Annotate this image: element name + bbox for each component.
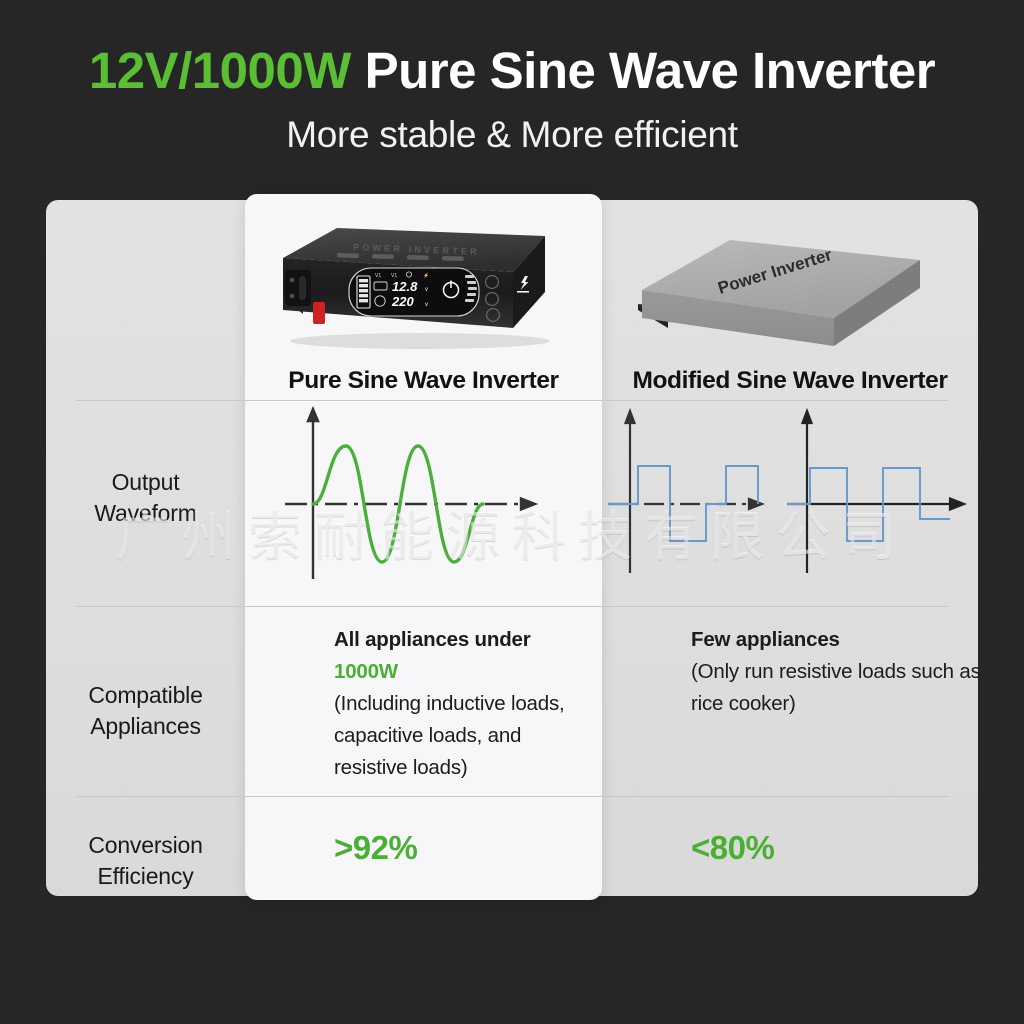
lcd-display: V1V1 ⚡ 12.8 v 220 v [349, 268, 479, 316]
cell-appliances-pure-sine: All appliances under 1000W (Including in… [334, 624, 602, 784]
svg-text:⚡: ⚡ [423, 272, 429, 279]
row-label-conversion-efficiency: Conversion Efficiency [46, 830, 245, 891]
ac-socket [285, 270, 311, 306]
page-header: 12V/1000W Pure Sine Wave Inverter More s… [0, 0, 1024, 156]
row-label-output-waveform: Output Waveform [46, 467, 245, 528]
page-subtitle: More stable & More efficient [0, 114, 1024, 156]
lcd-dc-voltage: 12.8 [392, 279, 418, 294]
divider-after-header [76, 400, 948, 401]
svg-text:v: v [425, 287, 428, 293]
page-title-spec: 12V/1000W [89, 42, 351, 99]
lcd-ac-voltage: 220 [391, 294, 414, 309]
column-header-pure-sine: Pure Sine Wave Inverter [245, 367, 602, 395]
column-header-modified-sine: Modified Sine Wave Inverter [602, 367, 978, 395]
cell-appliances-modified-sine: Few appliances (Only run resistive loads… [691, 624, 1021, 720]
svg-text:V1: V1 [375, 273, 381, 279]
cell-efficiency-modified-sine: <80% [691, 829, 774, 867]
page-title: 12V/1000W Pure Sine Wave Inverter [0, 44, 1024, 98]
svg-text:v: v [425, 302, 428, 308]
divider-after-appliances [76, 796, 948, 797]
row-label-compatible-appliances: Compatible Appliances [46, 680, 245, 741]
power-switch [313, 302, 325, 324]
divider-after-waveform [76, 606, 948, 607]
pure-sine-inverter-image: POWER INVERTER [245, 210, 602, 355]
pure-sine-waveform-chart [245, 401, 602, 606]
modified-sine-inverter-image: Power Inverter [602, 218, 978, 358]
comparison-table: 广州索耐能源科技有限公司 [46, 200, 978, 896]
cell-efficiency-pure-sine: >92% [334, 829, 417, 867]
modified-sine-waveform-chart [602, 401, 978, 606]
page-title-product: Pure Sine Wave Inverter [365, 42, 936, 99]
